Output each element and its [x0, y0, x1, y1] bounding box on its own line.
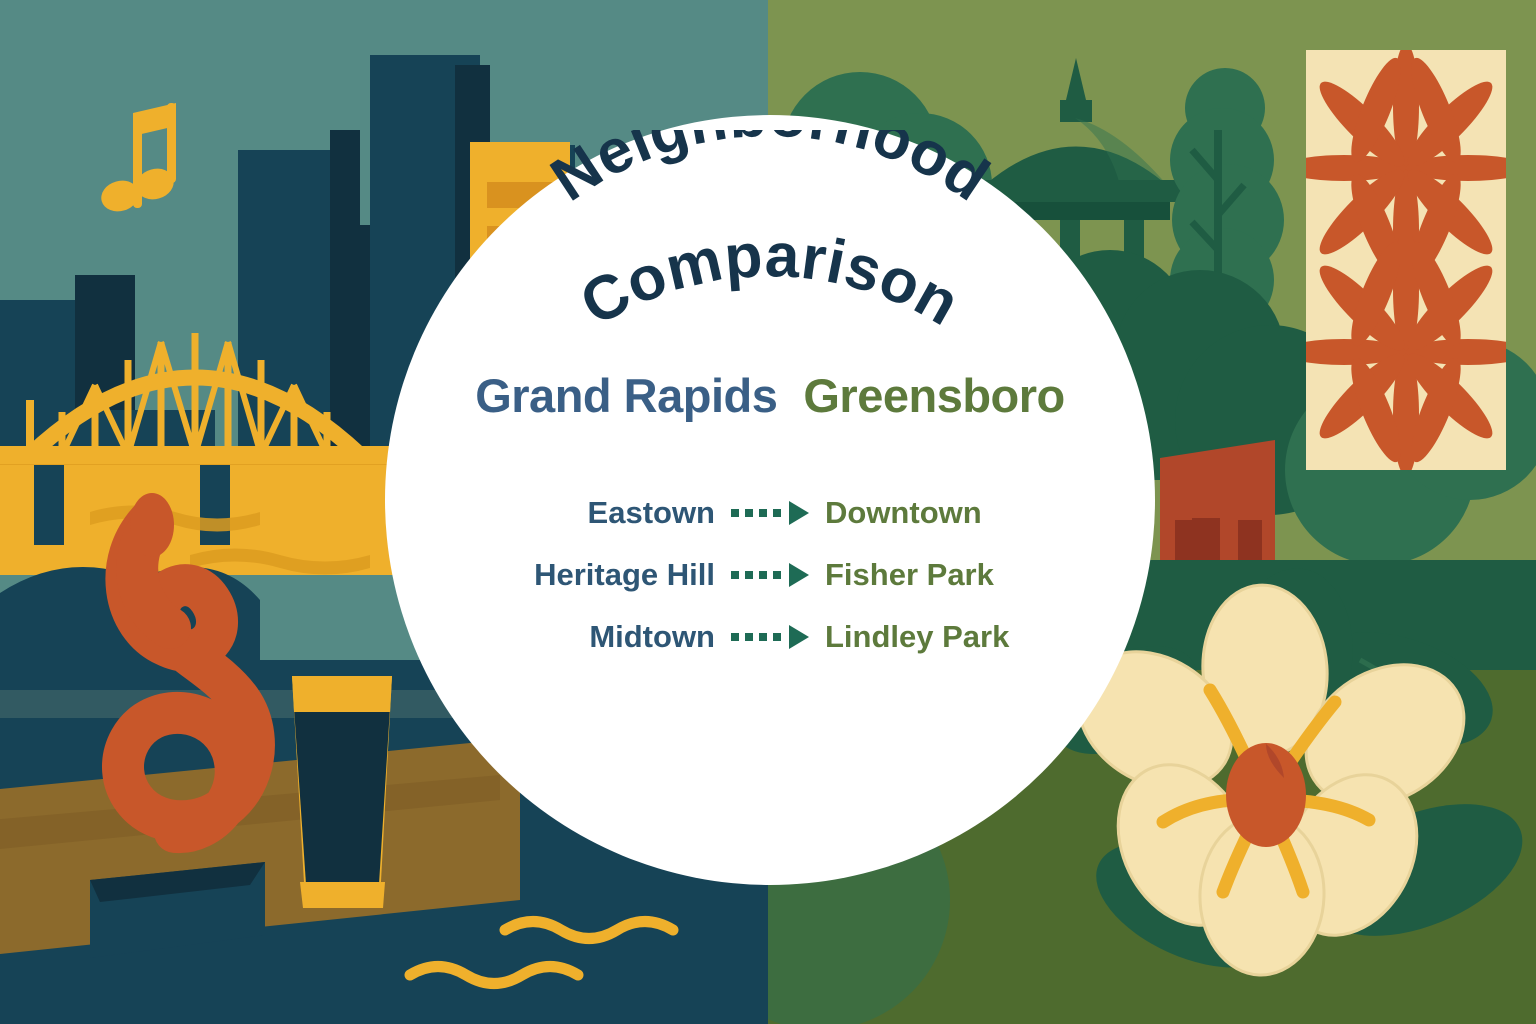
city-headings: Grand Rapids Greensboro [385, 368, 1155, 423]
svg-text:Comparison: Comparison [570, 221, 971, 339]
comparison-rows: Eastown Downtown Heritage Hill Fisher Pa… [385, 495, 1155, 655]
row-right-neighborhood: Fisher Park [809, 557, 1155, 593]
floral-textile-panel-icon [1282, 44, 1530, 476]
comparison-row: Midtown Lindley Park [385, 619, 1155, 655]
dotted-arrow-icon [731, 501, 809, 525]
comparison-row: Heritage Hill Fisher Park [385, 557, 1155, 593]
row-left-neighborhood: Midtown [385, 619, 731, 655]
row-right-neighborhood: Downtown [809, 495, 1155, 531]
row-right-neighborhood: Lindley Park [809, 619, 1155, 655]
svg-text:Neighborhood: Neighborhood [539, 130, 1001, 215]
infographic-canvas: Neighborhood Comparison Grand Rapids Gre… [0, 0, 1536, 1024]
dotted-arrow-icon [731, 625, 809, 649]
title-line-1: Neighborhood [539, 130, 1001, 215]
dotted-arrow-icon [731, 563, 809, 587]
row-left-neighborhood: Eastown [385, 495, 731, 531]
comparison-row: Eastown Downtown [385, 495, 1155, 531]
title-line-2: Comparison [570, 221, 971, 339]
row-left-neighborhood: Heritage Hill [385, 557, 731, 593]
pint-glass-icon [292, 676, 392, 908]
city-heading-right: Greensboro [803, 368, 1064, 423]
city-heading-left: Grand Rapids [475, 368, 777, 423]
